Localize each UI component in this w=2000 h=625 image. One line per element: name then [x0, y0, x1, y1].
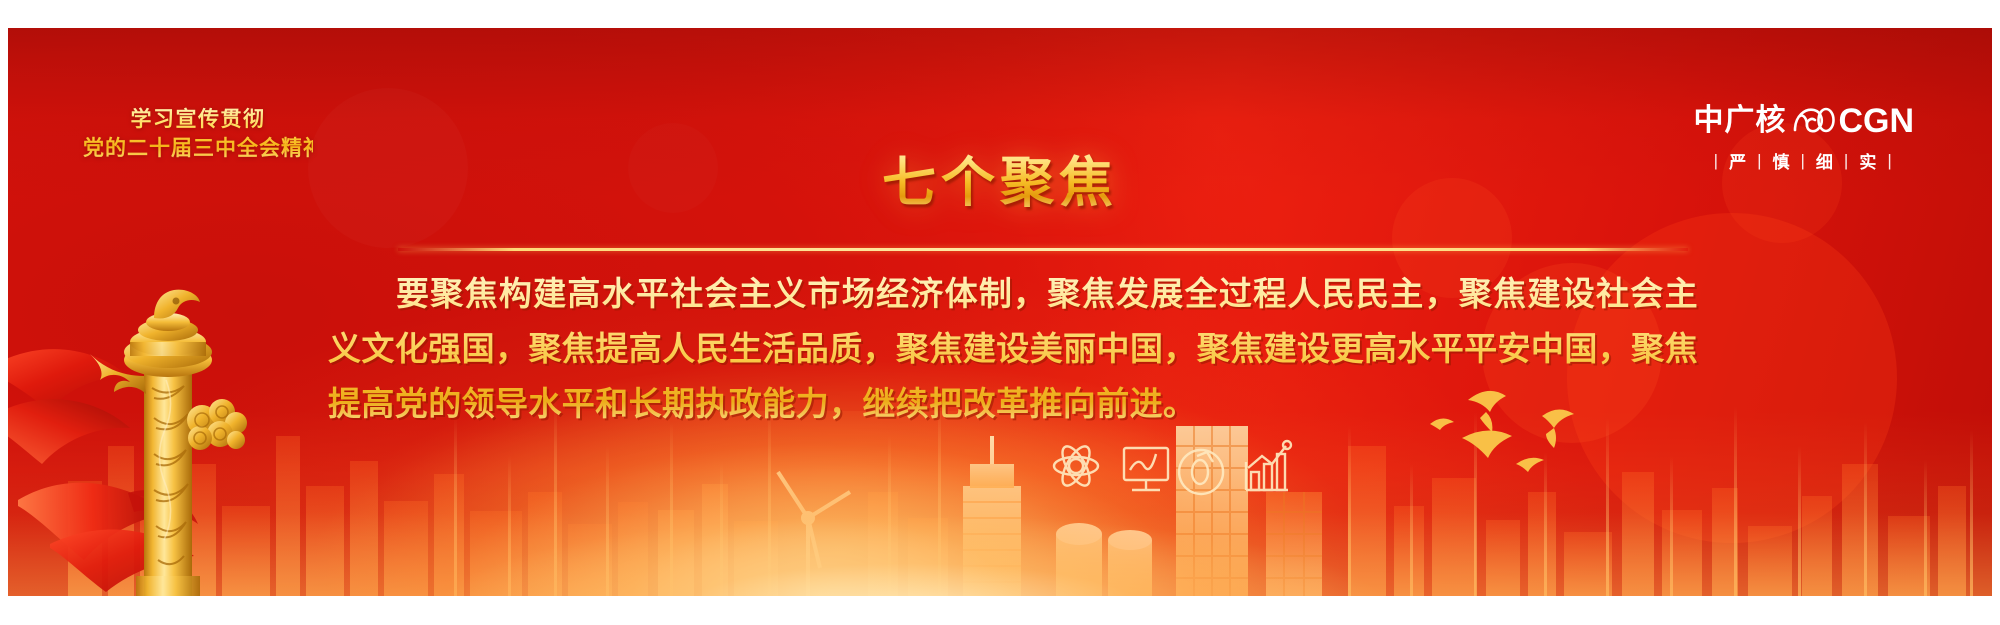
logo-value-xi: 细	[1816, 148, 1835, 173]
huabiao-ornamental-column	[70, 268, 260, 596]
logo-values-row: | 严 | 慎 | 细 | 实 |	[1693, 148, 1914, 173]
body-paragraph: 要聚焦构建高水平社会主义市场经济体制，聚焦发展全过程人民民主，聚焦建设社会主义文…	[328, 266, 1698, 431]
gold-divider-line	[398, 248, 1688, 251]
logo-value-shi: 实	[1859, 148, 1878, 173]
banner-root: 学习宣传贯彻 党的二十届三中全会精神 七个聚焦 要聚焦构建高水平社会主义市场经济…	[0, 0, 2000, 625]
cgn-swirl-icon	[1791, 104, 1835, 138]
cgn-logo: 中广核 CGN | 严 | 慎 | 细	[1693, 104, 1914, 173]
logo-separator: |	[1757, 151, 1763, 171]
logo-value-yan: 严	[1729, 148, 1748, 173]
logo-value-shen: 慎	[1773, 148, 1792, 173]
nuclear-energy-icon	[1179, 450, 1223, 494]
slogan-line-1: 学习宣传贯彻	[131, 108, 266, 131]
icons-svg	[1048, 428, 1298, 498]
dove-icon	[1462, 430, 1512, 458]
cgn-swirl-svg	[1791, 104, 1835, 138]
logo-main-row: 中广核 CGN	[1693, 104, 1914, 138]
banner-stage: 学习宣传贯彻 党的二十届三中全会精神 七个聚焦 要聚焦构建高水平社会主义市场经济…	[8, 28, 1992, 596]
atom-icon	[1054, 442, 1098, 489]
growth-bar-chart-icon	[1246, 441, 1291, 490]
logo-separator: |	[1844, 151, 1850, 171]
logo-separator: |	[1887, 151, 1893, 171]
logo-separator: |	[1714, 151, 1720, 171]
logo-english-text: CGN	[1838, 104, 1914, 138]
energy-icons-row	[1048, 428, 1298, 498]
monitor-chart-icon	[1124, 448, 1168, 490]
dove-icon	[1516, 458, 1544, 472]
logo-chinese-text: 中广核	[1693, 106, 1786, 136]
logo-separator: |	[1801, 151, 1807, 171]
huabiao-svg	[70, 268, 260, 596]
